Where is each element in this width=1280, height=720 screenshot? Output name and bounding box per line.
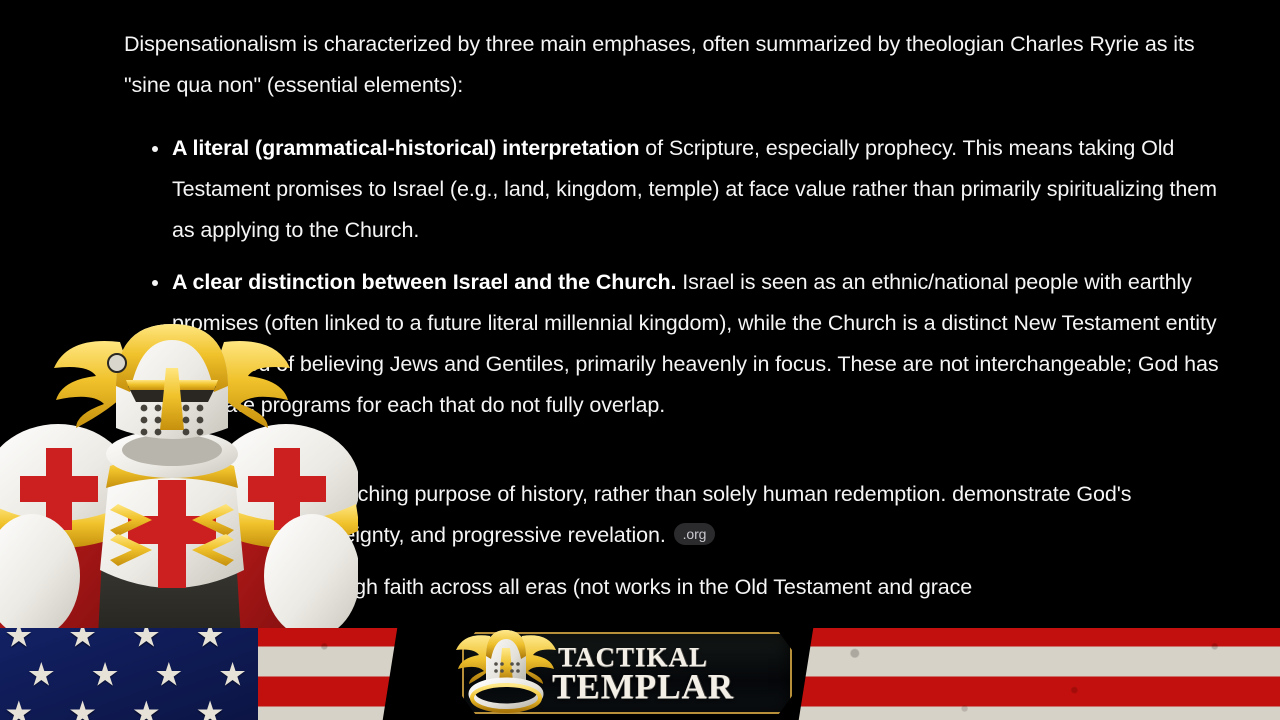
tactikal-templar-logo[interactable]: TACTIKAL TEMPLAR [444, 626, 800, 720]
list-item: d as by grace through faith across all e… [124, 567, 1220, 608]
bullet-3-lead: f God [172, 482, 228, 506]
flag-star: ★ [132, 628, 161, 652]
bottom-banner: ★★★★★★★★★★★★★★★ [0, 628, 1280, 720]
flag-star: ★ [68, 628, 97, 652]
flag-canton: ★★★★★★★★★★★★★★★ [0, 628, 258, 720]
flag-star: ★ [154, 658, 183, 691]
winged-helmet-icon [450, 626, 562, 718]
logo-line-2: TEMPLAR [552, 671, 734, 703]
flag-star: ★ [4, 697, 33, 720]
flag-star: ★ [196, 628, 225, 652]
flag-star: ★ [91, 658, 120, 691]
bullet-3-body: as the overarching purpose of history, r… [228, 482, 947, 506]
american-flag-left: ★★★★★★★★★★★★★★★ [0, 628, 397, 720]
flag-star: ★ [196, 697, 225, 720]
emphases-list: A literal (grammatical-historical) inter… [124, 128, 1220, 608]
flag-star: ★ [218, 658, 247, 691]
list-item: A clear distinction between Israel and t… [124, 262, 1220, 426]
article-content: Dispensationalism is characterized by th… [0, 0, 1280, 720]
citation-chip[interactable]: .org [674, 523, 716, 545]
list-item: A literal (grammatical-historical) inter… [124, 128, 1220, 251]
flag-stripes [799, 628, 1280, 720]
bullet-4-line: d as by grace through faith across all e… [172, 575, 972, 599]
bullet-2-lead: A clear distinction between Israel and t… [172, 270, 676, 294]
bullet-1-lead: A literal (grammatical-historical) inter… [172, 136, 639, 160]
list-item: f God as the overarching purpose of hist… [124, 474, 1220, 556]
american-flag-right [799, 628, 1280, 720]
flag-star: ★ [4, 628, 33, 652]
flag-star: ★ [68, 697, 97, 720]
flag-star: ★ [132, 697, 161, 720]
flag-star: ★ [27, 658, 56, 691]
intro-paragraph: Dispensationalism is characterized by th… [124, 24, 1220, 106]
video-frame: Dispensationalism is characterized by th… [0, 0, 1280, 720]
